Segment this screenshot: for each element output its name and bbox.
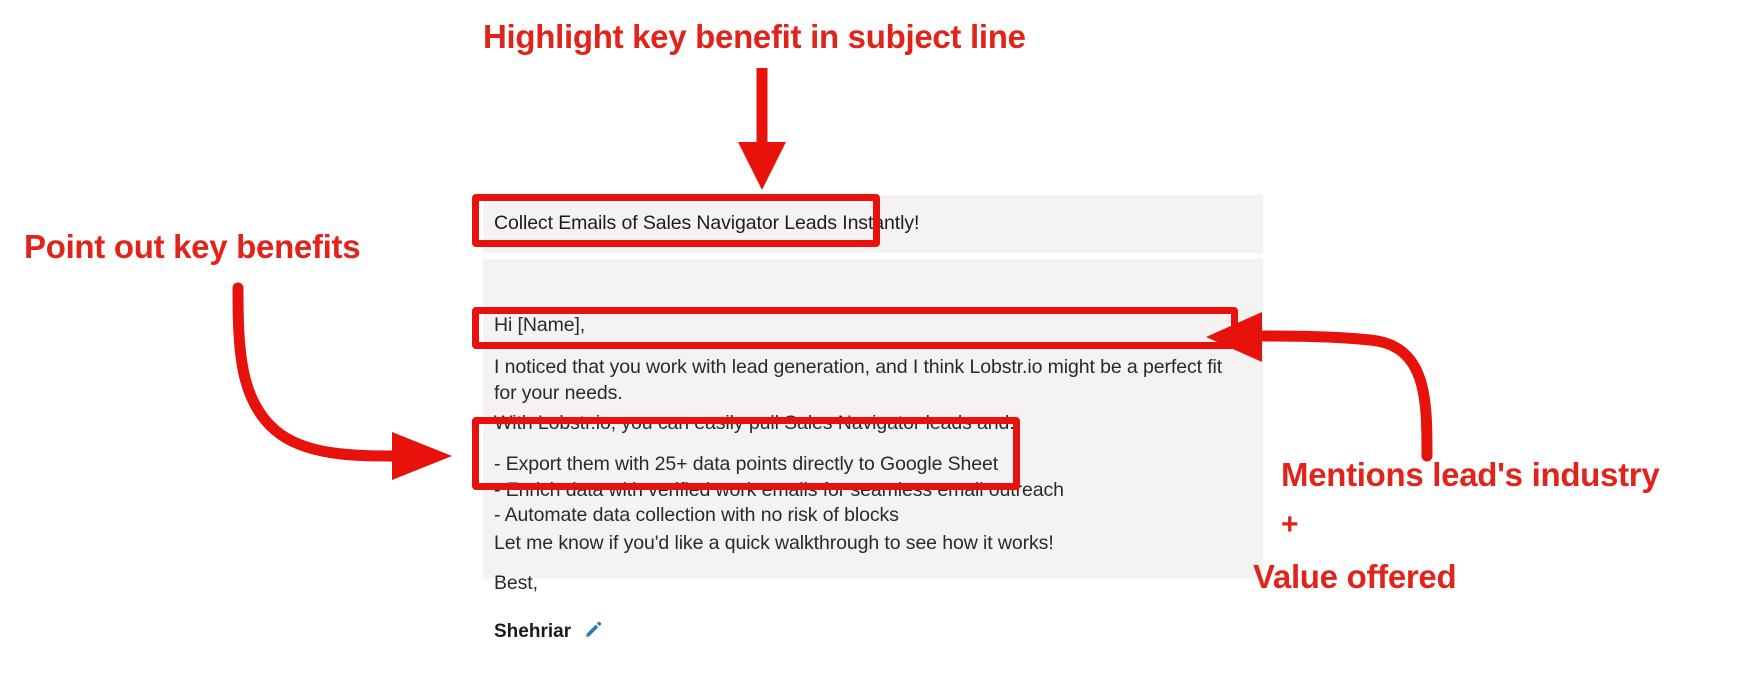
highlight-box-subject (472, 194, 880, 247)
annotation-label-benefits: Point out key benefits (24, 228, 360, 266)
email-composer-panel: Collect Emails of Sales Navigator Leads … (483, 195, 1263, 595)
arrow-curved-to-bullets (238, 288, 452, 480)
arrow-down-to-subject (738, 68, 786, 190)
highlight-box-intro-paragraph (472, 307, 1238, 349)
highlight-box-bullets (472, 417, 1020, 490)
annotation-label-plus: + (1281, 508, 1299, 542)
screenshot-canvas: Collect Emails of Sales Navigator Leads … (0, 0, 1744, 700)
email-call-to-action: Let me know if you'd like a quick walkth… (494, 530, 1054, 556)
email-intro-paragraph: I noticed that you work with lead genera… (494, 354, 1234, 406)
annotation-label-subject: Highlight key benefit in subject line (483, 18, 1026, 56)
annotation-label-value: Value offered (1253, 558, 1456, 596)
annotation-label-industry: Mentions lead's industry (1281, 456, 1659, 494)
email-closing-line: Best, (494, 570, 538, 596)
signature-name-text: Shehriar (494, 621, 571, 643)
email-signature-row: Shehriar (494, 620, 603, 644)
pencil-icon[interactable] (584, 620, 603, 644)
